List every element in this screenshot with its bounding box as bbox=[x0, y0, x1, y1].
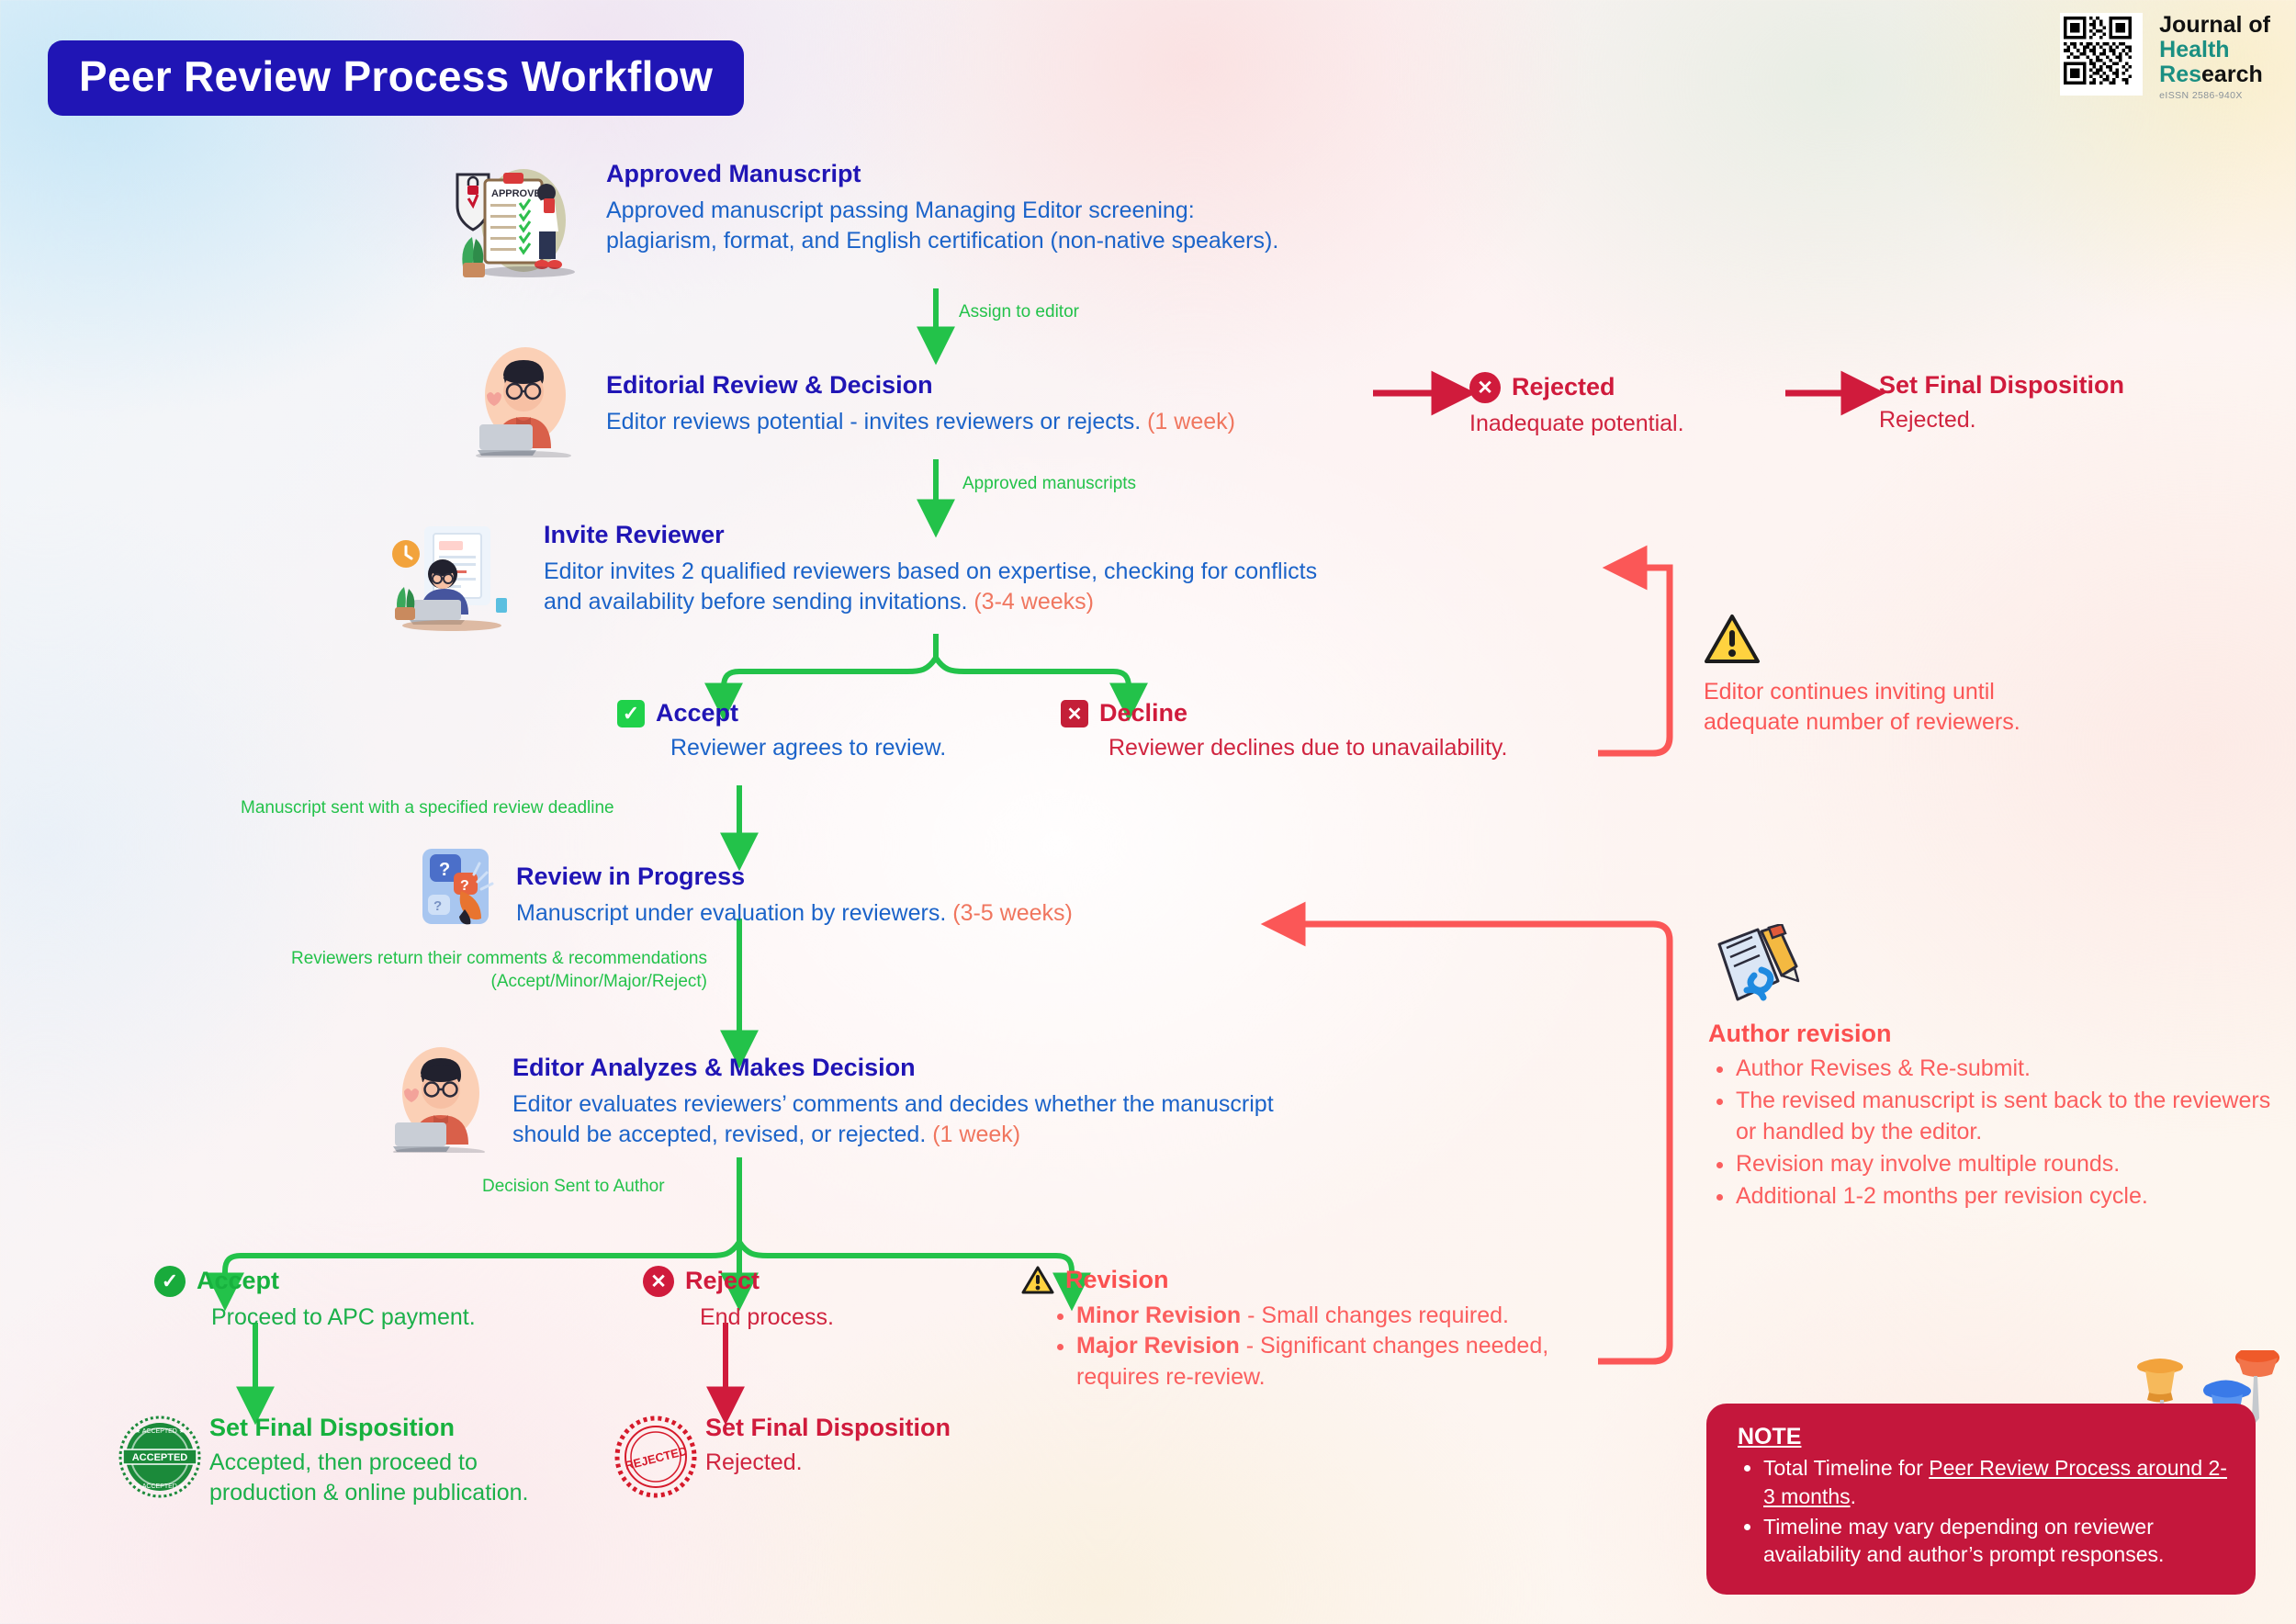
approved-manuscript-title: Approved Manuscript bbox=[606, 161, 1525, 188]
svg-text:?: ? bbox=[439, 860, 450, 880]
rejected-desc: Inadequate potential. bbox=[1469, 409, 1818, 439]
author-revision-illustration bbox=[1710, 924, 1802, 1011]
review-in-progress-time: (3-5 weeks) bbox=[952, 900, 1073, 926]
revision-bullets: Minor Revision - Small changes required.… bbox=[1049, 1301, 1591, 1393]
approved-manuscript-desc-line2: plagiarism, format, and English certific… bbox=[606, 226, 1525, 256]
author-revision-bullets: Author Revises & Re-submit. The revised … bbox=[1708, 1054, 2278, 1212]
final-disposition-reject-title: Set Final Disposition bbox=[705, 1415, 1073, 1442]
accepted-stamp-icon: ACCEPTED ★ ACCEPTED ★ ★ ACCEPTED ★ bbox=[118, 1415, 209, 1506]
revision-major-label: Major Revision bbox=[1076, 1333, 1240, 1359]
invite-warning-line2: adequate number of reviewers. bbox=[1704, 707, 2255, 738]
note-header: NOTE bbox=[1738, 1424, 2228, 1450]
journal-logo: Journal of Health Research eISSN 2586-94… bbox=[2060, 13, 2270, 101]
node-final-disposition-rejected: Set Final Disposition Rejected. bbox=[705, 1415, 1073, 1478]
page-title-badge: Peer Review Process Workflow bbox=[48, 40, 744, 116]
svg-text:★ ACCEPTED ★: ★ ACCEPTED ★ bbox=[135, 1483, 185, 1490]
decline-reviewer-title: Decline bbox=[1099, 700, 1187, 727]
reject-circle-icon: ✕ bbox=[1469, 372, 1501, 403]
panel-author-revision: Author revision Author Revises & Re-subm… bbox=[1708, 1020, 2278, 1213]
review-in-progress-desc: Manuscript under evaluation by reviewers… bbox=[516, 900, 946, 926]
editorial-review-time: (1 week) bbox=[1147, 409, 1235, 434]
svg-text:?: ? bbox=[433, 898, 442, 914]
final-disposition-top-title: Set Final Disposition bbox=[1879, 372, 2283, 400]
note-bullets: Total Timeline for Peer Review Process a… bbox=[1738, 1454, 2228, 1569]
review-in-progress-illustration: ? ? ? bbox=[413, 845, 514, 928]
node-invite-reviewer: Invite Reviewer Editor invites 2 qualifi… bbox=[544, 522, 1554, 617]
logo-line1-a: Journal bbox=[2159, 12, 2242, 38]
note-bullet-0: Total Timeline for Peer Review Process a… bbox=[1763, 1454, 2228, 1511]
edge-label-decision-sent: Decision Sent to Author bbox=[482, 1176, 665, 1199]
page-title: Peer Review Process Workflow bbox=[79, 52, 713, 100]
revision-minor-label: Minor Revision bbox=[1076, 1303, 1241, 1328]
note-bullet-0-post: . bbox=[1851, 1484, 1856, 1508]
node-review-in-progress: Review in Progress Manuscript under eval… bbox=[516, 863, 1435, 929]
final-disposition-accept-desc: Accepted, then proceed to production & o… bbox=[209, 1448, 577, 1508]
node-decline-reviewer: ✕ Decline Reviewer declines due to unava… bbox=[1061, 700, 1612, 763]
invite-reviewer-title: Invite Reviewer bbox=[544, 522, 1554, 549]
node-accept-reviewer: ✓ Accept Reviewer agrees to review. bbox=[617, 700, 1003, 763]
accept-check-circle-icon: ✓ bbox=[154, 1266, 186, 1297]
accept-final-title: Accept bbox=[197, 1268, 279, 1295]
rejected-title: Rejected bbox=[1512, 374, 1615, 401]
author-revision-title: Author revision bbox=[1708, 1020, 2278, 1048]
node-revision: Revision Minor Revision - Small changes … bbox=[1021, 1266, 1591, 1393]
revision-bullet-minor: Minor Revision - Small changes required. bbox=[1076, 1301, 1591, 1331]
final-disposition-reject-desc: Rejected. bbox=[705, 1448, 1073, 1478]
decline-reviewer-desc: Reviewer declines due to unavailability. bbox=[1109, 733, 1612, 763]
note-bullet-1: Timeline may vary depending on reviewer … bbox=[1763, 1513, 2228, 1570]
rejected-stamp-icon: REJECTED bbox=[613, 1415, 705, 1506]
node-editorial-review: Editorial Review & Decision Editor revie… bbox=[606, 372, 1433, 437]
final-disposition-top-desc: Rejected. bbox=[1879, 405, 2283, 435]
logo-line3-a: Res bbox=[2159, 62, 2201, 87]
reject-final-desc: End process. bbox=[700, 1303, 1010, 1333]
review-in-progress-title: Review in Progress bbox=[516, 863, 1435, 891]
editorial-review-desc: Editor reviews potential - invites revie… bbox=[606, 409, 1141, 434]
editor-analyzes-time: (1 week) bbox=[932, 1122, 1020, 1147]
node-approved-manuscript: Approved Manuscript Approved manuscript … bbox=[606, 161, 1525, 256]
reject-final-title: Reject bbox=[685, 1268, 760, 1295]
invite-reviewer-desc-line2: and availability before sending invitati… bbox=[544, 589, 967, 615]
editor-analyzes-desc-line1: Editor evaluates reviewers’ comments and… bbox=[512, 1089, 1569, 1120]
accept-reviewer-title: Accept bbox=[656, 700, 738, 727]
logo-line3-b: earch bbox=[2201, 62, 2263, 87]
editorial-review-title: Editorial Review & Decision bbox=[606, 372, 1433, 400]
editor-analyzes-desc-line2: should be accepted, revised, or rejected… bbox=[512, 1122, 926, 1147]
reject-final-circle-icon: ✕ bbox=[643, 1266, 674, 1297]
note-bullet-0-pre: Total Timeline for bbox=[1763, 1456, 1929, 1480]
node-final-disposition-accepted: Set Final Disposition Accepted, then pro… bbox=[209, 1415, 577, 1508]
revision-title: Revision bbox=[1065, 1267, 1169, 1294]
author-revision-bullet-1: The revised manuscript is sent back to t… bbox=[1736, 1086, 2278, 1147]
editor-analyzes-title: Editor Analyzes & Makes Decision bbox=[512, 1054, 1569, 1082]
author-revision-bullet-3: Additional 1-2 months per revision cycle… bbox=[1736, 1181, 2278, 1212]
edge-label-assign-to-editor: Assign to editor bbox=[959, 301, 1079, 324]
accept-reviewer-desc: Reviewer agrees to review. bbox=[670, 733, 1003, 763]
approved-manuscript-desc-line1: Approved manuscript passing Managing Edi… bbox=[606, 196, 1525, 226]
node-final-disposition-rejected-top: Set Final Disposition Rejected. bbox=[1879, 372, 2283, 435]
panel-note: NOTE Total Timeline for Peer Review Proc… bbox=[1706, 1404, 2256, 1595]
journal-logo-text: Journal of Health Research eISSN 2586-94… bbox=[2159, 13, 2270, 101]
revision-warning-triangle-icon bbox=[1021, 1266, 1054, 1295]
editor-illustration bbox=[459, 347, 588, 457]
svg-text:★ ACCEPTED ★: ★ ACCEPTED ★ bbox=[135, 1427, 185, 1435]
qr-code-icon bbox=[2060, 13, 2143, 96]
final-disposition-accept-title: Set Final Disposition bbox=[209, 1415, 577, 1442]
node-rejected: ✕ Rejected Inadequate potential. bbox=[1469, 372, 1818, 439]
warning-triangle-icon bbox=[1704, 614, 1761, 665]
author-revision-bullet-0: Author Revises & Re-submit. bbox=[1736, 1054, 2278, 1084]
author-revision-bullet-2: Revision may involve multiple rounds. bbox=[1736, 1149, 2278, 1179]
edge-label-manuscript-sent: Manuscript sent with a specified review … bbox=[241, 797, 614, 820]
approved-clipboard-illustration: APPROVED bbox=[443, 158, 580, 277]
revision-minor-text: - Small changes required. bbox=[1241, 1303, 1509, 1328]
rejected-stamp-label: REJECTED bbox=[624, 1444, 689, 1472]
edge-label-approved-manuscripts: Approved manuscripts bbox=[962, 473, 1136, 496]
reviewers-return-line2: (Accept/Minor/Major/Reject) bbox=[184, 971, 707, 994]
editor-analyzes-illustration bbox=[378, 1047, 498, 1153]
edge-label-reviewers-return: Reviewers return their comments & recomm… bbox=[184, 948, 707, 993]
reviewers-return-line1: Reviewers return their comments & recomm… bbox=[184, 948, 707, 971]
accepted-stamp-label: ACCEPTED bbox=[132, 1452, 188, 1463]
node-reject-final: ✕ Reject End process. bbox=[643, 1266, 1010, 1333]
logo-issn: eISSN 2586-940X bbox=[2159, 91, 2270, 101]
invite-reviewer-desc-line1: Editor invites 2 qualified reviewers bas… bbox=[544, 557, 1554, 587]
panel-invite-warning: Editor continues inviting until adequate… bbox=[1704, 614, 2255, 738]
revision-bullet-major: Major Revision - Significant changes nee… bbox=[1076, 1331, 1591, 1393]
invite-reviewer-illustration bbox=[386, 519, 523, 634]
accept-final-desc: Proceed to APC payment. bbox=[211, 1303, 540, 1333]
node-accept-final: ✓ Accept Proceed to APC payment. bbox=[154, 1266, 540, 1333]
accept-check-square-icon: ✓ bbox=[617, 700, 645, 727]
decline-x-square-icon: ✕ bbox=[1061, 700, 1088, 727]
node-editor-analyzes: Editor Analyzes & Makes Decision Editor … bbox=[512, 1054, 1569, 1150]
invite-reviewer-time: (3-4 weeks) bbox=[974, 589, 1094, 615]
logo-line2: Health bbox=[2159, 38, 2270, 62]
invite-warning-line1: Editor continues inviting until bbox=[1704, 677, 2255, 707]
logo-line1-b: of bbox=[2242, 12, 2270, 38]
